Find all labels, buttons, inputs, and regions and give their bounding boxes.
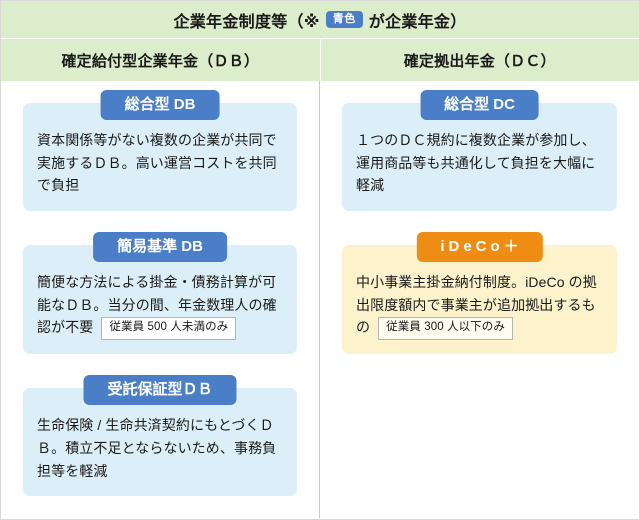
eligibility-tag-db: 従業員 500 人未満のみ xyxy=(101,317,236,340)
pension-system-diagram: 企業年金制度等（※ 青色 が企業年金） 確定給付型企業年金（ＤＢ） 確定拠出年金… xyxy=(0,0,640,520)
diagram-body: 総合型 DB 資本関係等がない複数の企業が共同で実施するＤＢ。高い運営コストを共… xyxy=(1,81,639,518)
diagram-title-bar: 企業年金制度等（※ 青色 が企業年金） xyxy=(1,1,639,39)
card-pill-jutakuhosho-db: 受託保証型ＤＢ xyxy=(83,375,236,405)
card-sogogata-db: 総合型 DB 資本関係等がない複数の企業が共同で実施するＤＢ。高い運営コストを共… xyxy=(23,103,297,211)
eligibility-tag-ideco: 従業員 300 人以下のみ xyxy=(378,317,513,340)
column-header-row: 確定給付型企業年金（ＤＢ） 確定拠出年金（ＤＣ） xyxy=(1,39,639,81)
card-body-jutakuhosho-db: 生命保険 / 生命共済契約にもとづくＤＢ。積立不足とならないため、事務負担等を軽… xyxy=(37,414,283,482)
card-pill-sogogata-db: 総合型 DB xyxy=(101,90,220,120)
card-body-sogogata-db: 資本関係等がない複数の企業が共同で実施するＤＢ。高い運営コストを共同で負担 xyxy=(37,129,283,197)
column-header-db: 確定給付型企業年金（ＤＢ） xyxy=(1,39,321,81)
card-pill-ideco-plus: iDeCo＋ xyxy=(416,232,542,262)
card-ideco-plus: iDeCo＋ 中小事業主掛金納付制度。iDeCo の拠出限度額内で事業主が追加拠… xyxy=(342,245,617,354)
blue-color-legend-badge: 青色 xyxy=(326,11,363,28)
title-prefix: 企業年金制度等（※ xyxy=(173,8,319,32)
column-header-dc: 確定拠出年金（ＤＣ） xyxy=(321,39,640,81)
card-body-ideco-plus: 中小事業主掛金納付制度。iDeCo の拠出限度額内で事業主が追加拠出するもの従業… xyxy=(356,271,603,340)
column-dc: 総合型 DC １つのＤＣ規約に複数企業が参加し、運用商品等も共通化して負担を大幅… xyxy=(320,81,639,518)
card-kaniukijun-db: 簡易基準 DB 簡便な方法による掛金・債務計算が可能なＤＢ。当分の間、年金数理人… xyxy=(23,245,297,354)
card-body-sogogata-dc: １つのＤＣ規約に複数企業が参加し、運用商品等も共通化して負担を大幅に軽減 xyxy=(356,129,603,197)
card-sogogata-dc: 総合型 DC １つのＤＣ規約に複数企業が参加し、運用商品等も共通化して負担を大幅… xyxy=(342,103,617,211)
column-db: 総合型 DB 資本関係等がない複数の企業が共同で実施するＤＢ。高い運営コストを共… xyxy=(1,81,320,518)
card-jutakuhosho-db: 受託保証型ＤＢ 生命保険 / 生命共済契約にもとづくＤＢ。積立不足とならないため… xyxy=(23,388,297,496)
card-body-kaniukijun-db: 簡便な方法による掛金・債務計算が可能なＤＢ。当分の間、年金数理人の確認が不要従業… xyxy=(37,271,283,340)
title-suffix: が企業年金） xyxy=(369,8,467,32)
card-pill-sogogata-dc: 総合型 DC xyxy=(420,90,539,120)
page-title: 企業年金制度等（※ 青色 が企業年金） xyxy=(173,8,466,32)
card-pill-kaniukijun-db: 簡易基準 DB xyxy=(93,232,227,262)
